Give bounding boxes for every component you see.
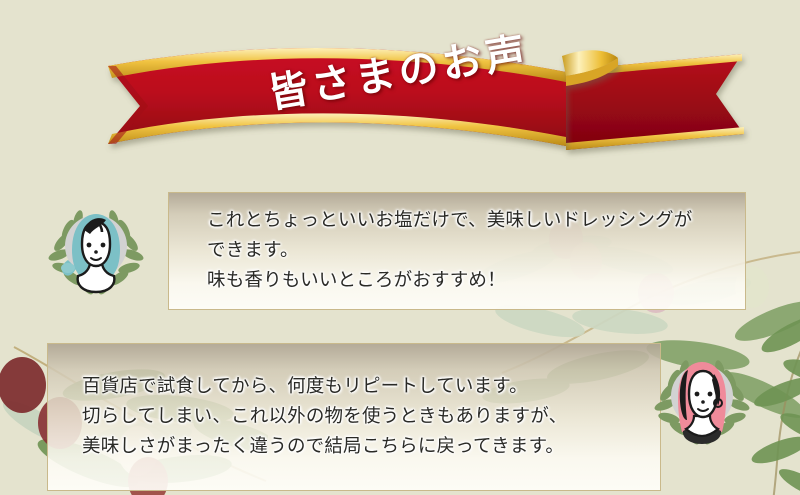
testimonial-text-2: 百貨店で試食してから、何度もリピートしています。 切らしてしまい、これ以外の物を…	[82, 372, 567, 462]
testimonial-text-1: これとちょっといいお塩だけで、美味しいドレッシングが できます。 味も香りもいい…	[207, 206, 692, 296]
ribbon-banner: 皆さまのお声	[0, 14, 800, 174]
avatar-teal-hair	[46, 198, 146, 298]
avatar-pink-hair	[652, 348, 752, 448]
testimonial-panel-2: 百貨店で試食してから、何度もリピートしています。 切らしてしまい、これ以外の物を…	[47, 343, 661, 491]
page-root: 皆さまのお声 これとちょっといいお塩だけで、美味しいドレッシングが できます。 …	[0, 0, 800, 495]
testimonial-panel-1: これとちょっといいお塩だけで、美味しいドレッシングが できます。 味も香りもいい…	[168, 192, 746, 310]
